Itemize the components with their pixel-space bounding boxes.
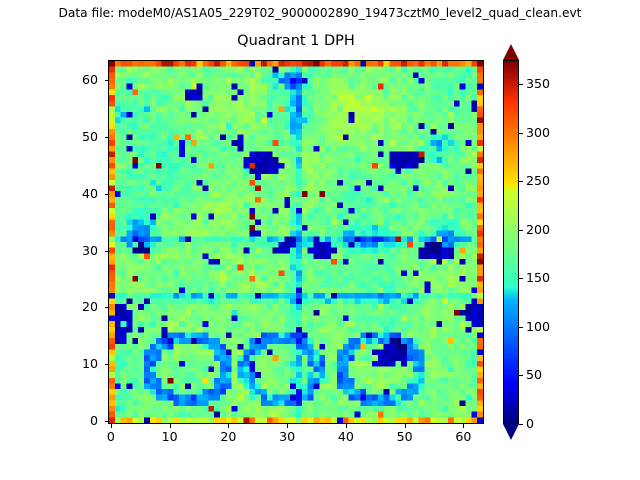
colorbar-tick-mark bbox=[519, 181, 523, 182]
colorbar-tick-mark bbox=[519, 278, 523, 279]
y-tick-mark bbox=[105, 307, 109, 308]
x-tick-mark bbox=[346, 424, 347, 428]
y-tick-mark bbox=[105, 364, 109, 365]
colorbar-tick-label: 200 bbox=[526, 223, 550, 237]
data-file-suptitle: Data file: modeM0/AS1A05_229T02_90000028… bbox=[0, 6, 640, 21]
x-tick-mark bbox=[170, 424, 171, 428]
y-tick-label: 60 bbox=[58, 73, 98, 87]
x-tick-mark bbox=[287, 424, 288, 428]
colorbar-tick-label: 250 bbox=[526, 174, 550, 188]
y-tick-label: 40 bbox=[58, 187, 98, 201]
x-tick-label: 50 bbox=[385, 430, 425, 444]
x-tick-mark bbox=[405, 424, 406, 428]
colorbar-tick-label: 50 bbox=[526, 368, 542, 382]
x-tick-mark bbox=[228, 424, 229, 428]
colorbar-gradient bbox=[504, 61, 518, 423]
colorbar-tick-label: 300 bbox=[526, 126, 550, 140]
colorbar-tick-mark bbox=[519, 375, 523, 376]
x-tick-label: 0 bbox=[91, 430, 131, 444]
y-tick-label: 50 bbox=[58, 130, 98, 144]
x-tick-label: 10 bbox=[150, 430, 190, 444]
heatmap-axes[interactable] bbox=[108, 60, 484, 424]
y-tick-mark bbox=[105, 80, 109, 81]
colorbar-tick-label: 100 bbox=[526, 320, 550, 334]
y-tick-label: 0 bbox=[58, 414, 98, 428]
y-tick-mark bbox=[105, 421, 109, 422]
colorbar-tick-mark bbox=[519, 133, 523, 134]
x-tick-label: 30 bbox=[267, 430, 307, 444]
colorbar[interactable]: 050100150200250300350 bbox=[503, 44, 563, 440]
y-tick-label: 30 bbox=[58, 244, 98, 258]
colorbar-tick-mark bbox=[519, 84, 523, 85]
colorbar-tick-mark bbox=[519, 230, 523, 231]
colorbar-tick-mark bbox=[519, 327, 523, 328]
colorbar-tick-mark bbox=[519, 424, 523, 425]
x-tick-label: 20 bbox=[208, 430, 248, 444]
colorbar-tick-label: 350 bbox=[526, 77, 550, 91]
matplotlib-figure: Data file: modeM0/AS1A05_229T02_90000028… bbox=[0, 0, 640, 480]
y-tick-mark bbox=[105, 137, 109, 138]
colorbar-extend-high-arrow bbox=[503, 44, 519, 60]
y-tick-label: 10 bbox=[58, 357, 98, 371]
y-tick-mark bbox=[105, 251, 109, 252]
colorbar-extend-low-arrow bbox=[503, 424, 519, 440]
x-tick-mark bbox=[111, 424, 112, 428]
colorbar-tick-label: 0 bbox=[526, 417, 534, 431]
dph-heatmap-image[interactable] bbox=[109, 61, 483, 423]
colorbar-tick-label: 150 bbox=[526, 271, 550, 285]
x-tick-mark bbox=[463, 424, 464, 428]
y-tick-mark bbox=[105, 194, 109, 195]
colorbar-body[interactable] bbox=[503, 60, 519, 424]
x-tick-label: 60 bbox=[443, 430, 483, 444]
y-tick-label: 20 bbox=[58, 300, 98, 314]
x-tick-label: 40 bbox=[326, 430, 366, 444]
page-title: Quadrant 1 DPH bbox=[108, 32, 484, 50]
